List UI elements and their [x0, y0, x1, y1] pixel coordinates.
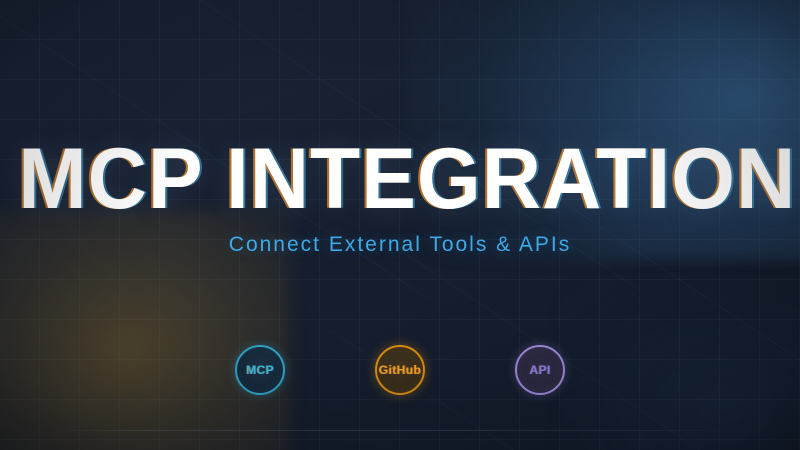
vignette-overlay — [0, 0, 800, 450]
presentation-slide: MCP INTEGRATION Connect External Tools &… — [0, 0, 800, 450]
